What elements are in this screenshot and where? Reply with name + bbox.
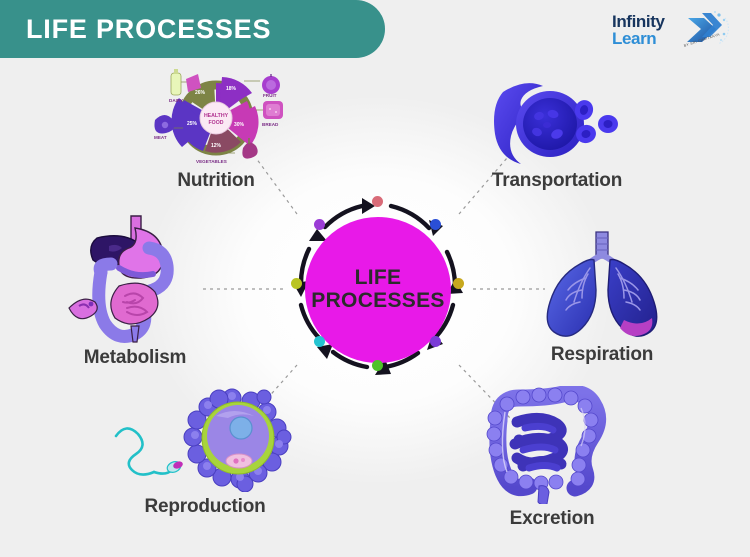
node-transportation[interactable]: Transportation <box>468 72 646 192</box>
header-banner: LIFE PROCESSES <box>0 0 385 58</box>
pie-center-line2: FOOD <box>209 120 224 126</box>
blood-vessel-cells-icon <box>487 72 627 168</box>
dot-top-right <box>430 219 441 230</box>
dot-left <box>291 278 302 289</box>
logo-wordmark: Infinity Learn <box>612 13 665 47</box>
hub-title-line2: PROCESSES <box>311 290 444 313</box>
pie-label-vegetables: VEGETABLES <box>196 159 227 164</box>
healthy-food-pie-chart-icon: HEALTHY FOOD 18% 30% 12% 25% 26% <box>143 68 289 168</box>
egg-cell-sperm-icon <box>112 388 298 492</box>
pie-label-meat: MEAT <box>154 135 167 140</box>
logo-line-infinity: Infinity <box>612 13 665 30</box>
food-emblem-meat <box>154 115 174 133</box>
pie-center-line1: HEALTHY <box>204 113 229 119</box>
dot-top <box>372 196 383 207</box>
dot-top-left <box>314 219 325 230</box>
node-label-reproduction: Reproduction <box>110 496 300 518</box>
node-label-respiration: Respiration <box>522 344 682 366</box>
node-label-metabolism: Metabolism <box>55 347 215 369</box>
node-metabolism[interactable]: Metabolism <box>55 212 215 369</box>
pie-pct-bread: 30% <box>234 122 245 128</box>
food-emblem-bread <box>263 101 283 119</box>
node-label-nutrition: Nutrition <box>138 170 294 192</box>
pie-label-bread: BREAD <box>262 122 279 127</box>
dot-bottom-left <box>314 336 325 347</box>
brand-logo: Infinity Learn BY SRI CHAITANYA <box>612 9 732 57</box>
dot-bottom-right <box>430 336 441 347</box>
node-excretion[interactable]: Excretion <box>468 386 636 530</box>
lungs-icon <box>532 228 672 340</box>
dot-right <box>453 278 464 289</box>
digestive-system-icon <box>65 212 205 344</box>
logo-line-learn: Learn <box>612 30 665 47</box>
node-respiration[interactable]: Respiration <box>522 228 682 366</box>
page-title: LIFE PROCESSES <box>26 14 271 45</box>
center-hub: LIFE PROCESSES <box>283 195 473 385</box>
pie-label-fruit: FRUIT <box>263 93 277 98</box>
pie-pct-meat: 25% <box>187 121 198 127</box>
intestines-icon <box>477 386 627 504</box>
pie-pct-vegetables: 12% <box>211 143 222 149</box>
pie-label-dairy: DAIRY <box>169 98 183 103</box>
dot-bottom <box>372 360 383 371</box>
pie-pct-fruit: 18% <box>226 86 237 92</box>
node-label-excretion: Excretion <box>468 508 636 530</box>
infographic-canvas: LIFE PROCESSES Infinity Learn BY SRI CHA… <box>0 0 750 557</box>
node-label-transportation: Transportation <box>468 170 646 192</box>
pie-pct-dairy: 26% <box>195 90 206 96</box>
node-reproduction[interactable]: Reproduction <box>110 388 300 518</box>
food-emblem-fruit <box>262 74 280 94</box>
hub-title-line1: LIFE <box>355 267 402 290</box>
node-nutrition[interactable]: HEALTHY FOOD 18% 30% 12% 25% 26% <box>138 68 294 192</box>
